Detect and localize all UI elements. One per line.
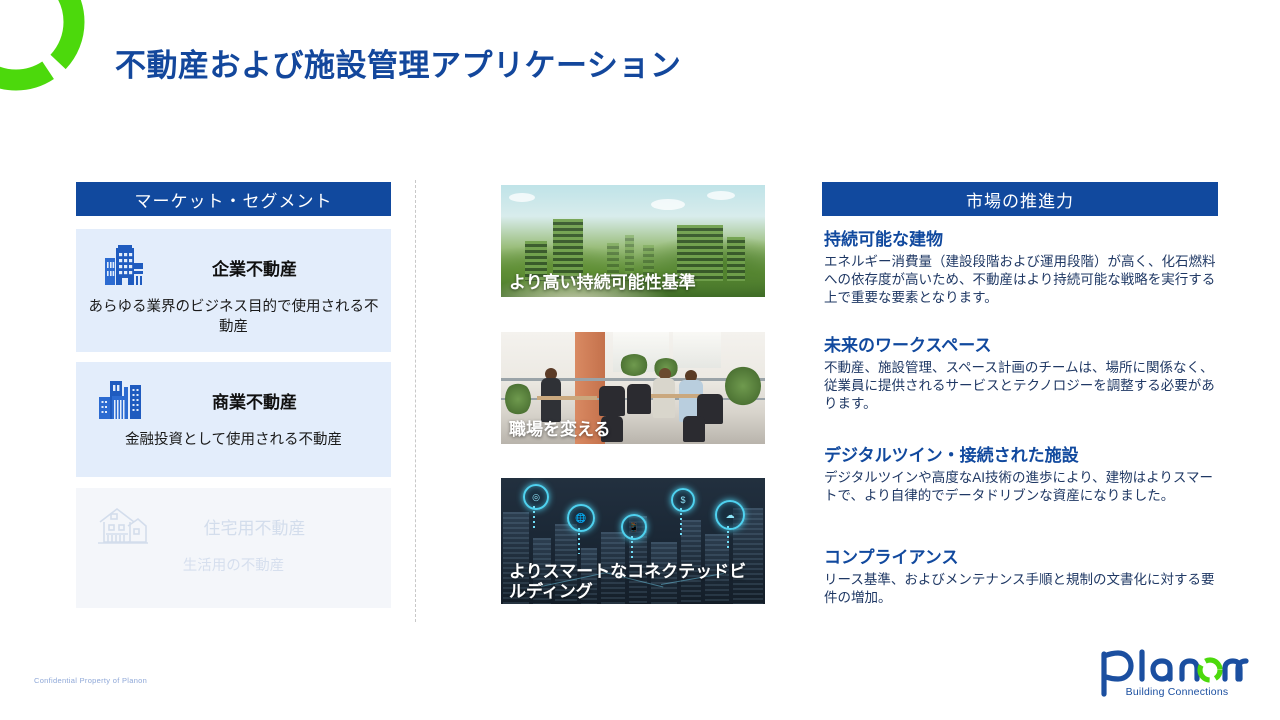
market-segments-header: マーケット・セグメント bbox=[76, 182, 391, 216]
page-title: 不動産および施設管理アプリケーション bbox=[115, 40, 681, 85]
segment-title: 企業不動産 bbox=[158, 255, 379, 280]
driver-digital-twin: デジタルツイン・接続された施設 デジタルツインや高度なAI技術の進歩により、建物… bbox=[824, 446, 1224, 505]
driver-title: コンプライアンス bbox=[824, 548, 1224, 568]
column-divider bbox=[415, 180, 416, 622]
driver-sustainable-buildings: 持続可能な建物 エネルギー消費量（建設段階および運用段階）が高く、化石燃料への依… bbox=[824, 230, 1224, 307]
image-caption: よりスマートなコネクテッドビルディング bbox=[509, 562, 759, 602]
segment-card-corporate[interactable]: 企業不動産 あらゆる業界のビジネス目的で使用される不動産 bbox=[76, 229, 391, 352]
driver-compliance: コンプライアンス リース基準、およびメンテナンス手順と規制の文書化に対する要件の… bbox=[824, 548, 1224, 607]
driver-title: 未来のワークスペース bbox=[824, 336, 1224, 356]
driver-body: デジタルツインや高度なAI技術の進歩により、建物はよりスマートで、より自律的でデ… bbox=[824, 469, 1224, 505]
driver-future-workspace: 未来のワークスペース 不動産、施設管理、スペース計画のチームは、場所に関係なく、… bbox=[824, 336, 1224, 413]
planon-arc-mark bbox=[0, 0, 90, 96]
driver-body: リース基準、およびメンテナンス手順と規制の文書化に対する要件の増加。 bbox=[824, 571, 1224, 607]
slide-root: 不動産および施設管理アプリケーション マーケット・セグメント bbox=[0, 0, 1280, 720]
office-building-icon bbox=[88, 245, 158, 289]
image-card-workplace[interactable]: 職場を変える bbox=[501, 332, 765, 444]
segment-description: 金融投資として使用される不動産 bbox=[88, 430, 379, 450]
image-card-smart-buildings[interactable]: ◎ 🌐 📱 $ ☁ よりスマートなコネクテッドビルディング bbox=[501, 478, 765, 604]
logo-tagline: Building Connections bbox=[1104, 686, 1250, 698]
image-caption: 職場を変える bbox=[509, 420, 759, 440]
segment-title: 商業不動産 bbox=[158, 388, 379, 413]
house-icon bbox=[88, 504, 158, 548]
confidential-notice: Confidential Property of Planon bbox=[34, 676, 147, 685]
skyscrapers-icon bbox=[88, 379, 158, 421]
segment-card-commercial[interactable]: 商業不動産 金融投資として使用される不動産 bbox=[76, 362, 391, 477]
segment-title: 住宅用不動産 bbox=[158, 514, 379, 539]
segment-description: 生活用の不動産 bbox=[88, 556, 379, 576]
image-card-sustainability[interactable]: より高い持続可能性基準 bbox=[501, 185, 765, 297]
segment-description: あらゆる業界のビジネス目的で使用される不動産 bbox=[88, 297, 379, 337]
driver-body: エネルギー消費量（建設段階および運用段階）が高く、化石燃料への依存度が高いため、… bbox=[824, 253, 1224, 307]
segment-card-residential[interactable]: 住宅用不動産 生活用の不動産 bbox=[76, 488, 391, 608]
driver-title: デジタルツイン・接続された施設 bbox=[824, 446, 1224, 466]
driver-title: 持続可能な建物 bbox=[824, 230, 1224, 250]
driver-body: 不動産、施設管理、スペース計画のチームは、場所に関係なく、従業員に提供されるサー… bbox=[824, 359, 1224, 413]
image-caption: より高い持続可能性基準 bbox=[509, 273, 759, 293]
market-drivers-header: 市場の推進力 bbox=[822, 182, 1218, 216]
